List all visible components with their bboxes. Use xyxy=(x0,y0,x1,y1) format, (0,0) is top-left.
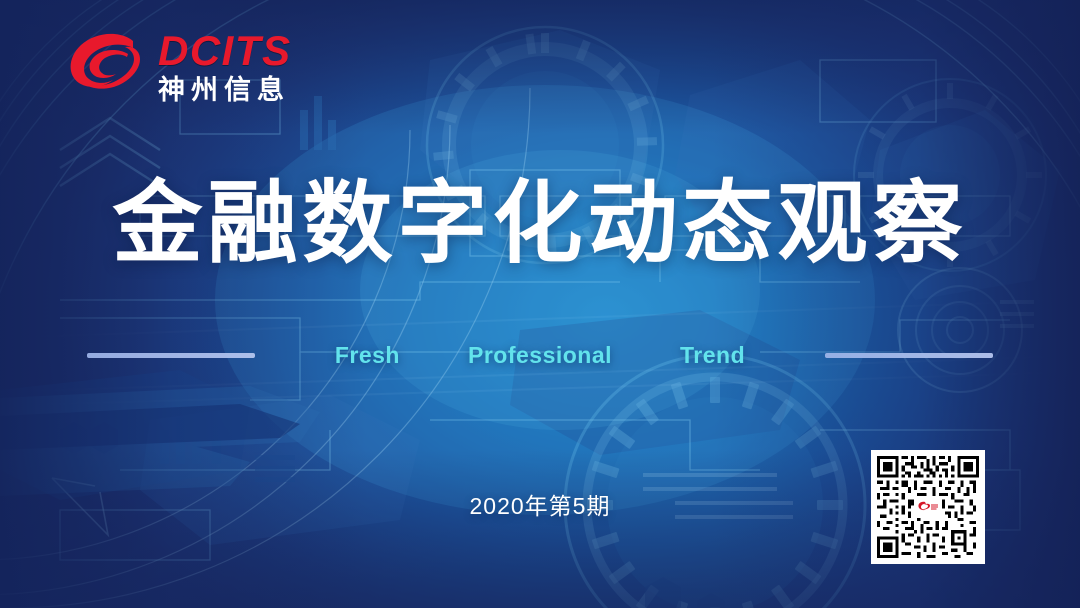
brand-logo: DCITS 神州信息 xyxy=(62,28,292,106)
dcits-mini-logo-icon xyxy=(917,500,939,515)
brand-name-cn: 神州信息 xyxy=(158,77,292,104)
tagline-rule-right xyxy=(825,353,993,358)
page-title: 金融数字化动态观察 xyxy=(0,176,1080,273)
tagline-word-trend: Trend xyxy=(646,342,779,369)
tagline-row: Fresh Professional Trend xyxy=(0,338,1080,372)
tagline-word-professional: Professional xyxy=(434,342,646,369)
brand-name-en: DCITS xyxy=(158,30,292,72)
tagline-rule-left xyxy=(87,353,255,358)
qr-center-logo xyxy=(914,496,942,518)
dcits-swoosh-logo-icon xyxy=(62,28,148,106)
poster-canvas: DCITS 神州信息 金融数字化动态观察 Fresh Professional … xyxy=(0,0,1080,608)
tagline-word-fresh: Fresh xyxy=(301,342,434,369)
wechat-qr-code[interactable] xyxy=(871,450,985,564)
brand-wordmark: DCITS 神州信息 xyxy=(158,30,292,104)
